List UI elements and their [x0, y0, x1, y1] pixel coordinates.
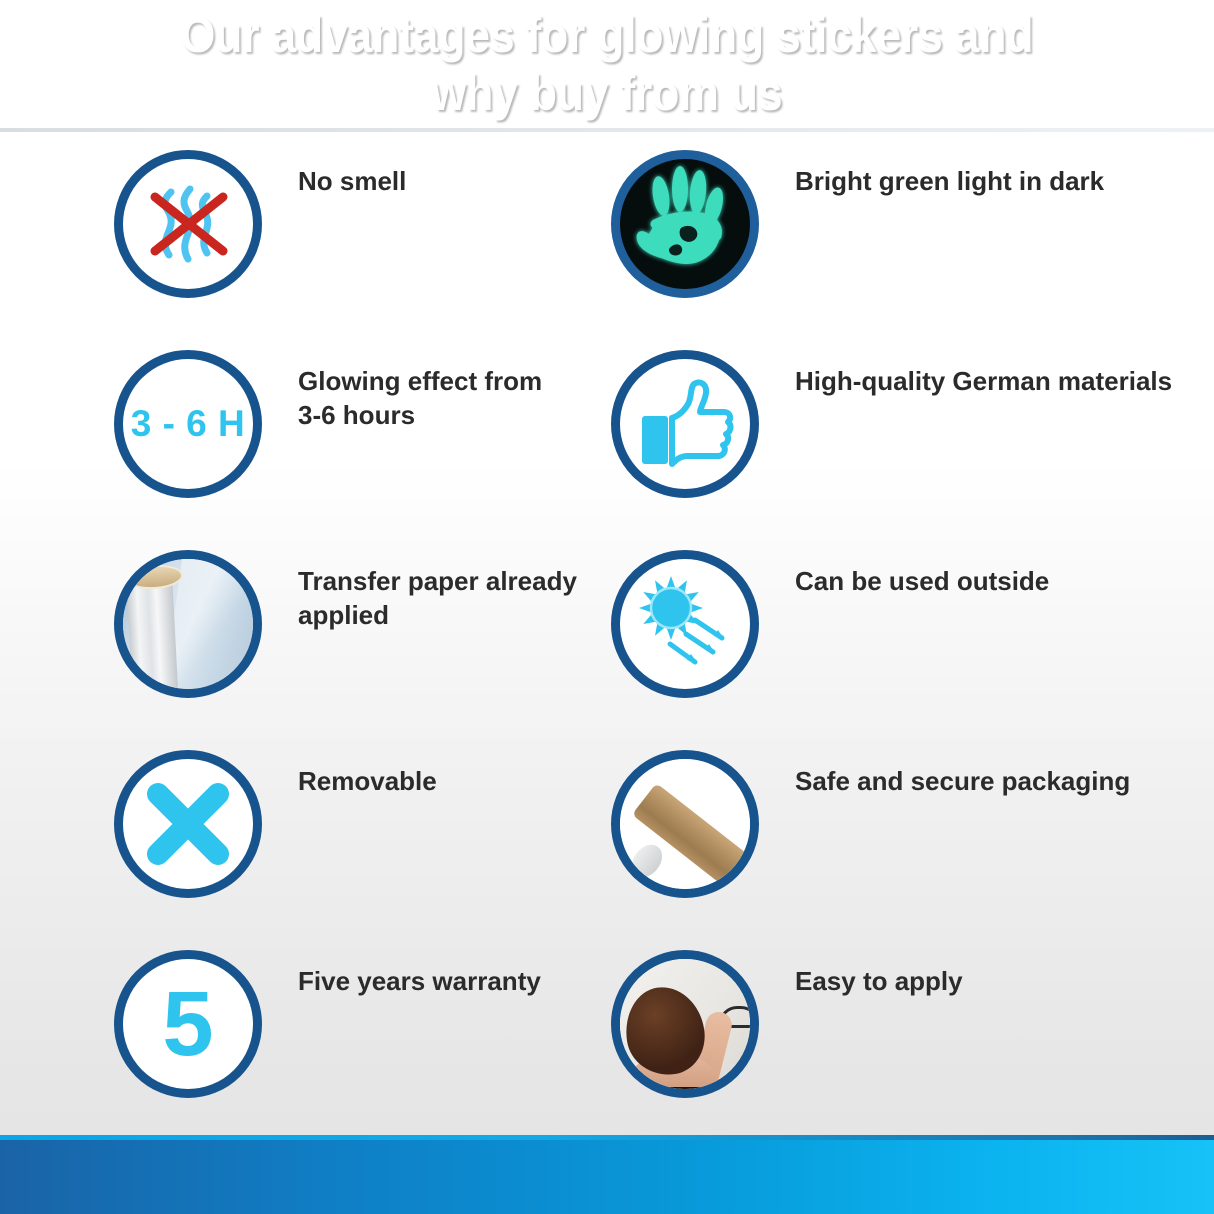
feature-row: 3 - 6 H Glowing effect from 3-6 hours	[0, 336, 1214, 536]
feature-label: High-quality German materials	[795, 364, 1172, 398]
tube-photo	[620, 759, 750, 889]
page-title: Our advantages for glowing stickers and …	[168, 6, 1046, 122]
sun-outdoor-icon	[611, 550, 759, 698]
person-top	[636, 1087, 716, 1098]
tube-body	[632, 783, 757, 893]
paper-roll-body	[126, 572, 178, 692]
transfer-paper-photo	[123, 559, 253, 689]
person-photo	[620, 959, 750, 1089]
thumb-glyph-icon	[632, 374, 738, 474]
glow-duration-icon: 3 - 6 H	[114, 350, 262, 498]
feature-label: Five years warranty	[298, 964, 541, 998]
feature-label: Can be used outside	[795, 564, 1049, 598]
feature-item-easy-apply: Easy to apply	[607, 936, 1214, 1136]
feature-label: Easy to apply	[795, 964, 963, 998]
paper-roll-core	[126, 563, 184, 591]
feature-item-german-materials: High-quality German materials	[607, 336, 1214, 536]
handprint-icon	[625, 162, 745, 286]
feature-label: Safe and secure packaging	[795, 764, 1130, 798]
advantages-infographic: Our advantages for glowing stickers and …	[0, 0, 1214, 1214]
feature-item-packaging: Safe and secure packaging	[607, 736, 1214, 936]
feature-label: Glowing effect from 3-6 hours	[298, 364, 542, 433]
cyan-x-icon	[138, 774, 238, 874]
warranty-number-text: 5	[162, 978, 213, 1070]
feature-label: Transfer paper already applied	[298, 564, 577, 633]
smoke-crossed-icon	[135, 171, 241, 277]
feature-label: Bright green light in dark	[795, 164, 1104, 198]
feature-grid: No smell	[0, 136, 1214, 1136]
feature-label: Removable	[298, 764, 437, 798]
feature-row: No smell	[0, 136, 1214, 336]
feature-item-warranty: 5 Five years warranty	[0, 936, 607, 1136]
glowing-handprint-icon	[611, 150, 759, 298]
header-banner: Our advantages for glowing stickers and …	[0, 0, 1214, 128]
transfer-paper-roll-icon	[114, 550, 262, 698]
feature-row: Transfer paper already applied	[0, 536, 1214, 736]
feature-label: No smell	[298, 164, 406, 198]
shipping-tube-icon	[611, 750, 759, 898]
no-smell-icon	[114, 150, 262, 298]
header-underline	[0, 128, 1214, 132]
bottom-band	[0, 1140, 1214, 1214]
applying-decal-icon	[611, 950, 759, 1098]
feature-row: Removable Safe and secure packaging	[0, 736, 1214, 936]
feature-item-glow-duration: 3 - 6 H Glowing effect from 3-6 hours	[0, 336, 607, 536]
glow-duration-text: 3 - 6 H	[131, 403, 246, 445]
feature-item-transfer-paper: Transfer paper already applied	[0, 536, 607, 736]
removable-cross-icon	[114, 750, 262, 898]
feature-item-bright-green: Bright green light in dark	[607, 136, 1214, 336]
feature-item-no-smell: No smell	[0, 136, 607, 336]
feature-item-outdoor: Can be used outside	[607, 536, 1214, 736]
thumbs-up-icon	[611, 350, 759, 498]
feature-item-removable: Removable	[0, 736, 607, 936]
feature-row: 5 Five years warranty Easy to a	[0, 936, 1214, 1136]
sun-rays-icon	[629, 568, 741, 680]
warranty-years-icon: 5	[114, 950, 262, 1098]
tube-end-cap	[626, 839, 669, 883]
